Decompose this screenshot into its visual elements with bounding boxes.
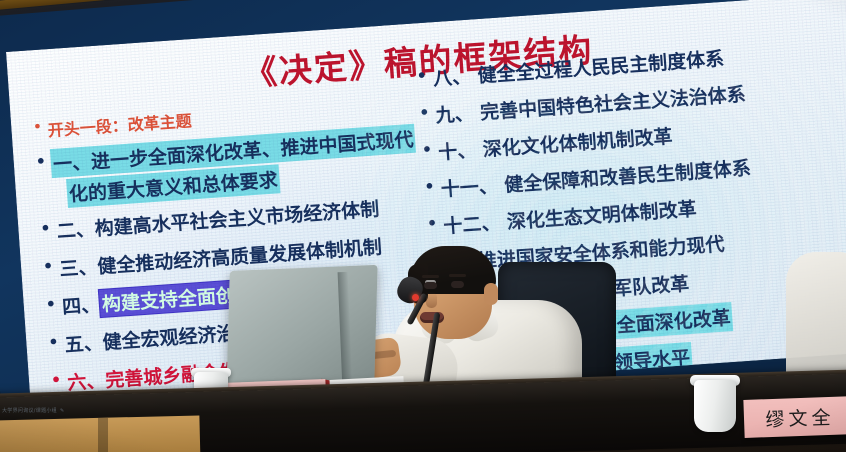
speaker-eyebrow-right — [449, 274, 466, 277]
laptop-lid — [226, 265, 377, 393]
screenshot-root: 《决定》稿的框架结构 • 开头一段：改革主题 • 一、进一步全面深化改革、推进中… — [0, 0, 846, 452]
projector-watermark: 大学界问询议/课题小组 ✎ — [2, 404, 80, 417]
bullet-icon: • — [40, 220, 51, 237]
bullet-icon: • — [416, 68, 427, 85]
bullet-icon: • — [43, 258, 54, 275]
list-item-label: 十、 深化文化体制机制改革 — [437, 122, 673, 165]
watermark-label: 大学界问询议/课题小组 — [2, 407, 57, 414]
tea-cup-right — [694, 380, 736, 432]
nameplate-right: 缪文全 — [743, 396, 846, 438]
list-item-label: 十二、 深化生态文明体制改革 — [442, 194, 697, 239]
bullet-icon: • — [50, 372, 61, 389]
bullet-icon: • — [426, 215, 437, 232]
bullet-icon: • — [35, 153, 46, 170]
speaker-eye-right — [451, 281, 464, 288]
bullet-icon: • — [33, 121, 42, 135]
speaker-nose — [426, 292, 437, 308]
microphone-led-icon — [412, 294, 419, 301]
bullet-icon: • — [421, 142, 432, 159]
speaker-eye-left — [424, 282, 437, 289]
bullet-icon: • — [424, 178, 435, 195]
table-seam — [98, 418, 108, 452]
bullet-icon: • — [419, 105, 430, 122]
nameplate-right-label: 缪文全 — [765, 402, 835, 431]
background-attendee — [786, 252, 846, 372]
pen-icon: ✎ — [60, 408, 65, 414]
bullet-icon: • — [45, 296, 56, 313]
list-item-prefix: 四、 — [61, 290, 101, 320]
bullet-icon: • — [48, 334, 59, 351]
speaker-ear — [484, 283, 498, 305]
speaker-eyebrow-left — [422, 275, 439, 278]
